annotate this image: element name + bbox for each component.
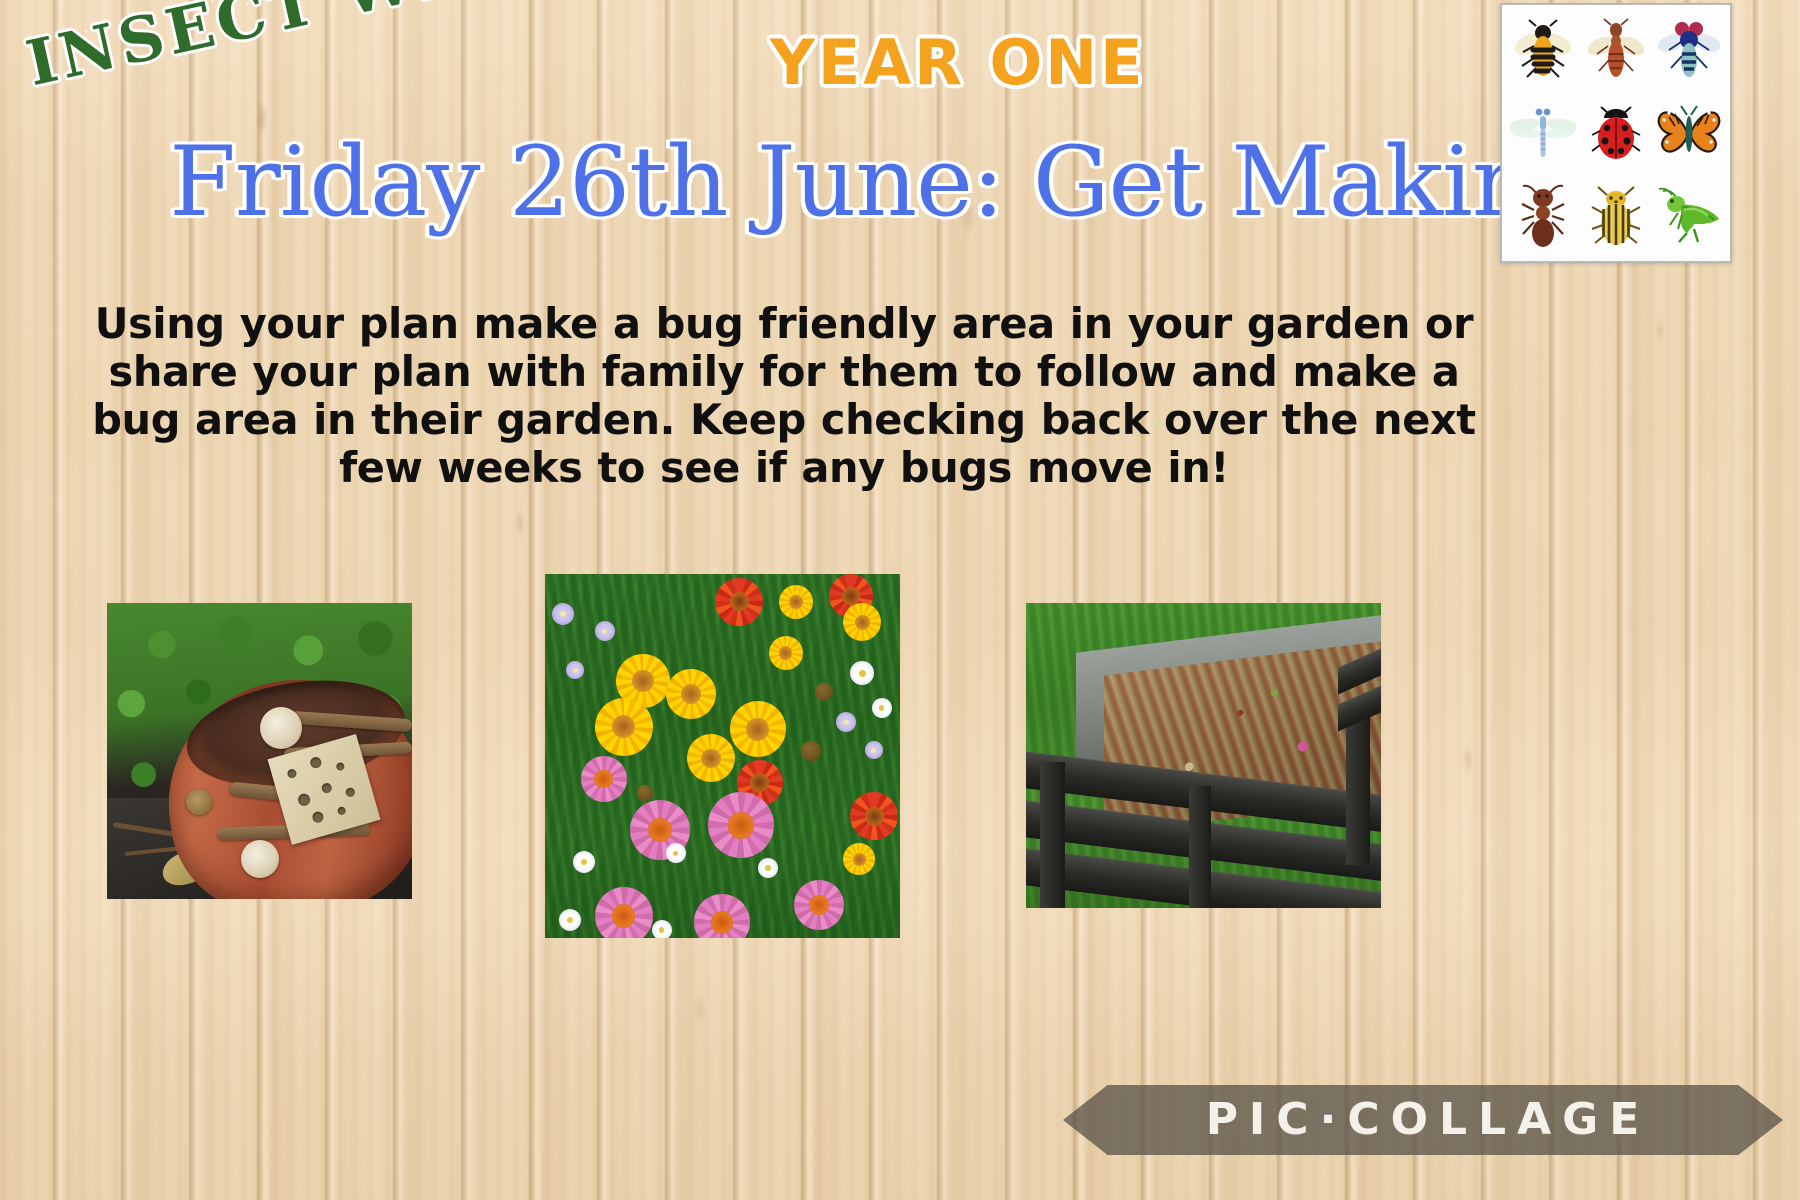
wasp-icon	[1579, 9, 1652, 92]
monarch-butterfly-icon	[1653, 92, 1726, 175]
photo-bug-hotel-in-terracotta-pot	[107, 603, 412, 899]
pic-collage-watermark-text: PIC·COLLAGE	[1196, 1098, 1651, 1142]
photo-wildflower-meadow	[545, 574, 900, 938]
insect-illustration-grid	[1500, 3, 1732, 263]
honey-bee-icon	[1506, 9, 1579, 92]
grasshopper-icon	[1653, 174, 1726, 257]
pic-collage-watermark: PIC·COLLAGE	[1063, 1085, 1783, 1155]
ant-icon	[1506, 174, 1579, 257]
ladybird-icon	[1579, 92, 1652, 175]
blue-bottle-fly-icon	[1653, 9, 1726, 92]
pic-collage-poster: INSECT WEEK YEAR ONE Friday 26th June: G…	[0, 0, 1800, 1200]
year-one-heading: YEAR ONE	[770, 26, 1146, 99]
dragonfly-icon	[1506, 92, 1579, 175]
colorado-beetle-icon	[1579, 174, 1652, 257]
photo-compost-bin	[1026, 603, 1381, 908]
instructions-paragraph: Using your plan make a bug friendly area…	[92, 300, 1476, 492]
